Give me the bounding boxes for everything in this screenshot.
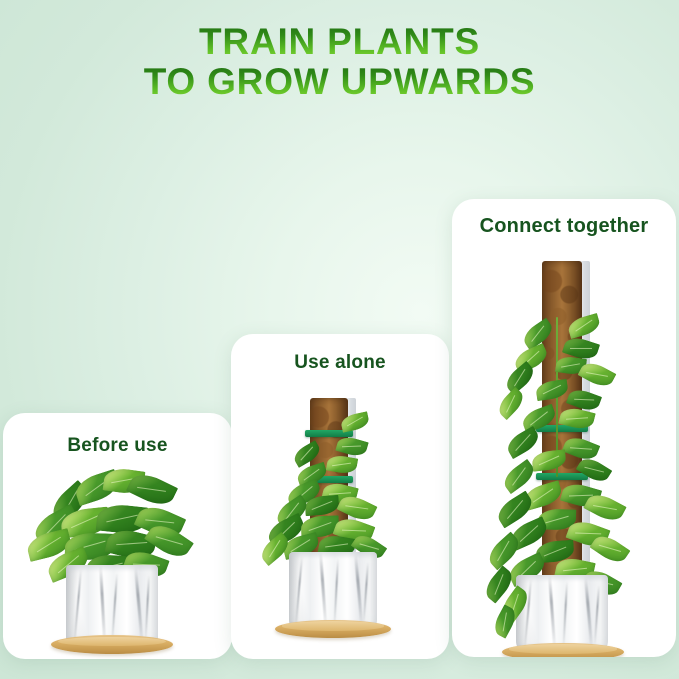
card-use-alone: Use alone [231,334,449,659]
title-line-1: TRAIN PLANTS [0,22,679,62]
title-line-2: TO GROW UPWARDS [0,62,679,102]
pot-vein [363,562,369,626]
pot-vein [333,558,339,628]
marble-pot [516,575,608,651]
card-before-use: Before use [3,413,232,659]
scene-use-alone [231,334,449,659]
pot-vein [594,585,600,647]
pot-vein [562,581,568,649]
pot-vein [73,569,82,647]
pot-vein [584,577,593,651]
infographic-canvas: TRAIN PLANTS TO GROW UPWARDS Before use [0,0,679,679]
marble-pot [289,552,377,630]
page-title: TRAIN PLANTS TO GROW UPWARDS [0,22,679,102]
pot-vein [319,552,327,630]
pot-vein [295,556,303,630]
pot-vein [144,575,150,643]
scene-connect-together [452,199,676,657]
bamboo-saucer [502,643,624,657]
pot-vein [524,579,532,651]
bamboo-saucer [275,620,391,638]
card-connect-together: Connect together [452,199,676,657]
velcro-tie [536,473,588,480]
pot-vein [548,575,556,651]
leaf [494,387,527,420]
bamboo-saucer [51,635,173,654]
scene-before-use [3,413,232,659]
